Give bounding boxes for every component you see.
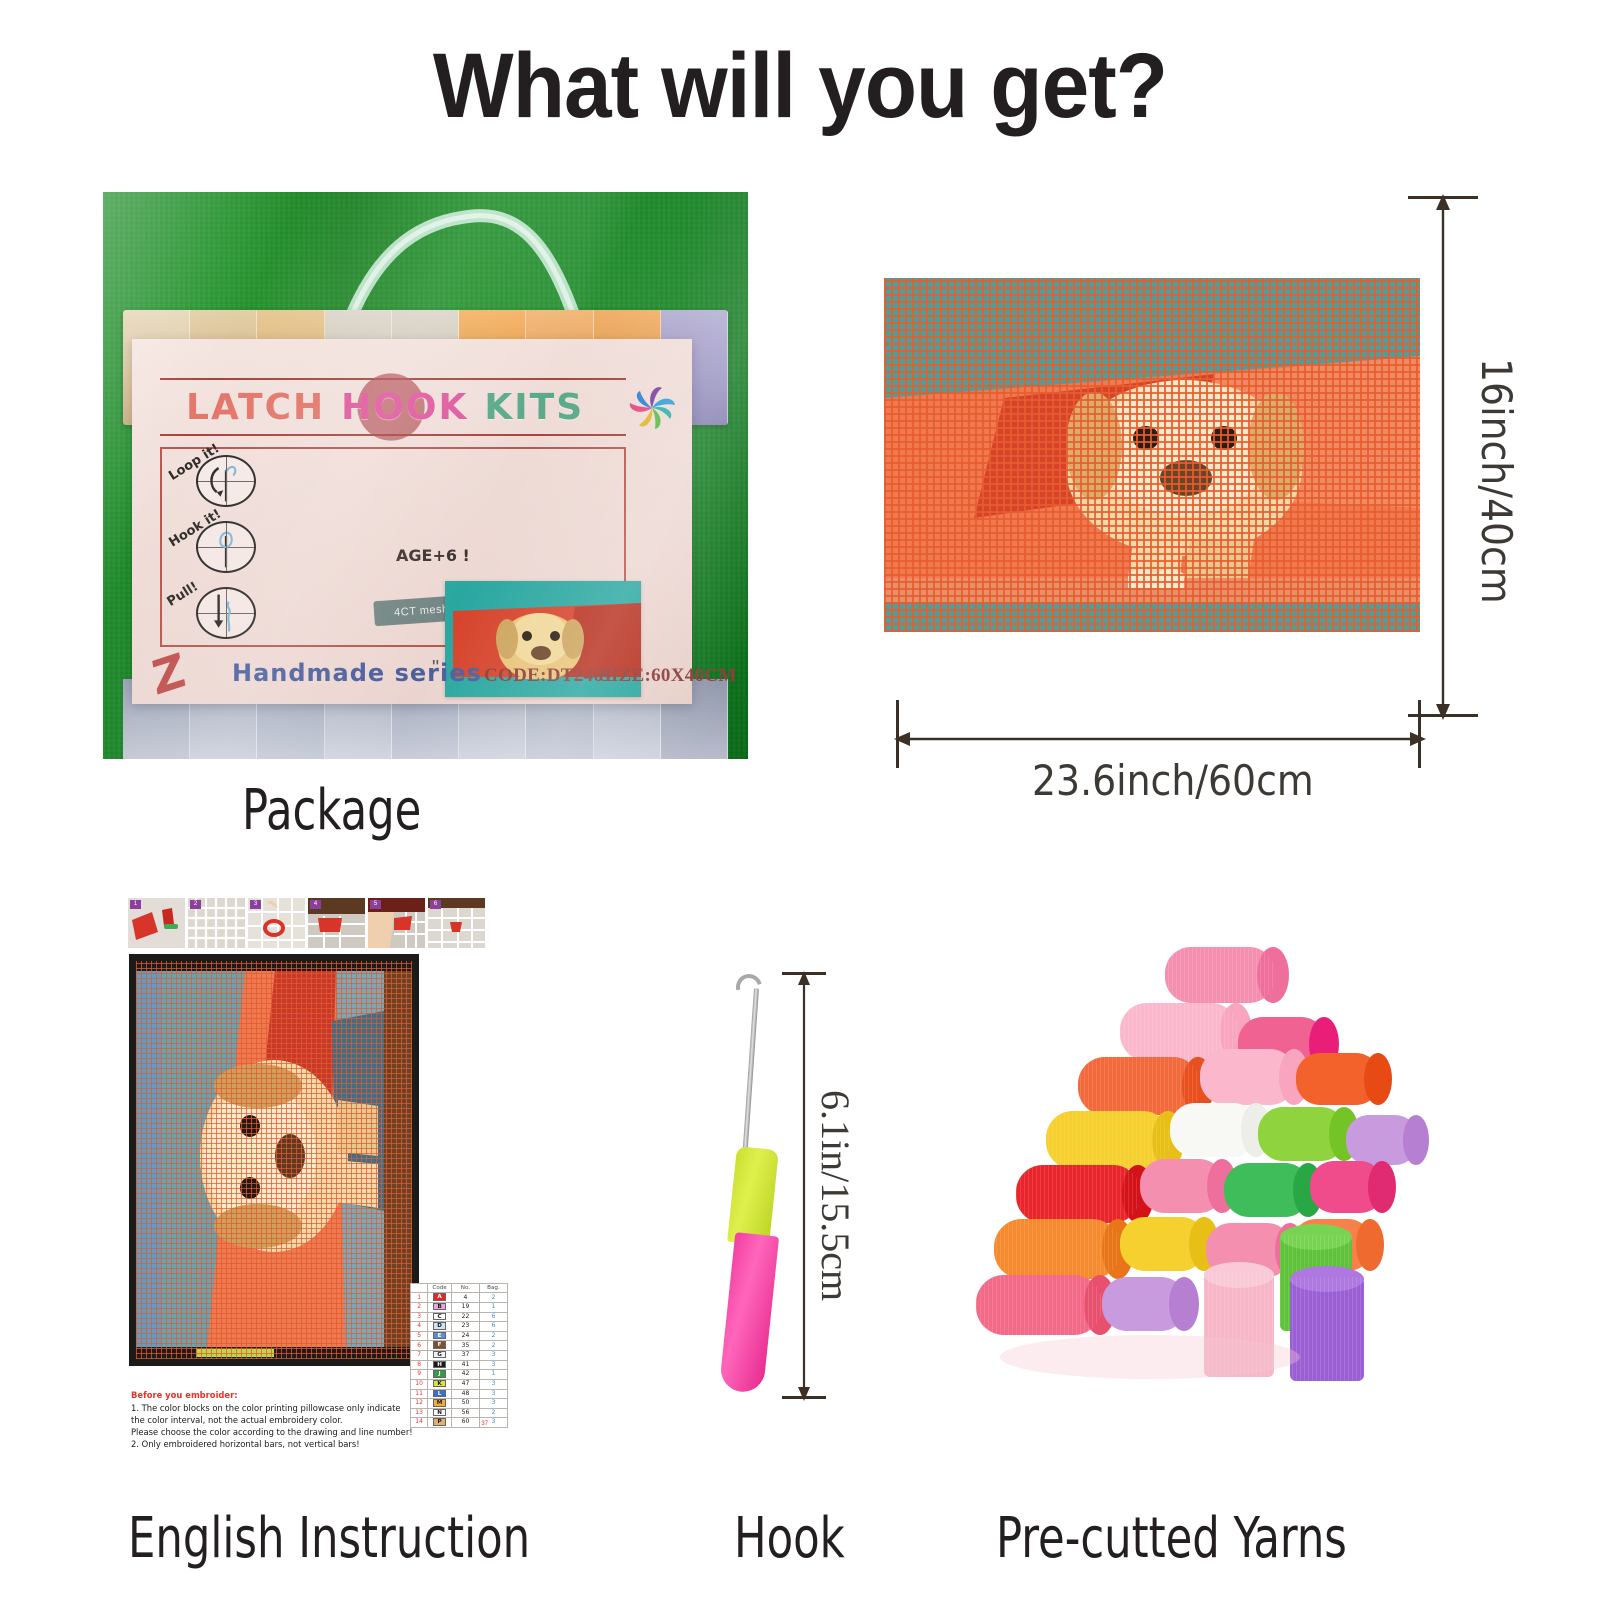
note-header: Before you embroider: (131, 1390, 431, 1402)
color-swatch: B (433, 1303, 446, 1310)
cell-number: 47 (451, 1379, 479, 1389)
note-line: 2. Only embroidered horizontal bars, not… (131, 1439, 360, 1449)
dimension-arrow-horizontal (890, 726, 1430, 752)
step-label-pull: Pull! (165, 579, 201, 610)
cell-index: 10 (411, 1379, 428, 1389)
thumbnail-step: 2 (188, 898, 245, 948)
cell-bag: 2 (479, 1293, 507, 1303)
color-swatch: A (433, 1293, 446, 1300)
cell-index: 7 (411, 1351, 428, 1361)
cell-number: 56 (451, 1408, 479, 1418)
color-swatch: C (433, 1313, 446, 1320)
cell-bag: 3 (479, 1379, 507, 1389)
cell-number: 50 (451, 1399, 479, 1409)
cell-index: 3 (411, 1312, 428, 1322)
cell-code: C (428, 1312, 452, 1322)
cell-bag: 1 (479, 1303, 507, 1313)
before-you-embroider-note: Before you embroider: 1. The color block… (131, 1390, 431, 1451)
cell-code: L (428, 1389, 452, 1399)
instruction-caption: English Instruction (128, 1506, 530, 1571)
cell-number: 4 (451, 1293, 479, 1303)
step-circle-loop (196, 455, 256, 507)
cell-code: F (428, 1341, 452, 1351)
thumbnail-number: 2 (190, 900, 201, 909)
color-swatch: L (433, 1390, 446, 1397)
label-rule-bottom (160, 434, 626, 436)
label-age-text: AGE+6 ! (396, 546, 470, 565)
instruction-chart (129, 954, 419, 1366)
instruction-thumbnail-strip: 1 2 3 (128, 898, 488, 948)
table-row: 7G373 (411, 1351, 508, 1361)
color-swatch: G (433, 1351, 446, 1358)
cell-index: 8 (411, 1360, 428, 1370)
step-circle-pull (196, 587, 256, 639)
table-row: 5E242 (411, 1331, 508, 1341)
table-row: 2B191 (411, 1303, 508, 1313)
note-line: 1. The color blocks on the color printin… (131, 1403, 401, 1413)
color-swatch: F (433, 1341, 446, 1348)
cell-number: 42 (451, 1370, 479, 1380)
canvas-width-label: 23.6inch/60cm (1032, 756, 1314, 805)
package-caption: Package (242, 778, 421, 843)
thumbnail-number: 1 (130, 900, 141, 909)
color-swatch: K (433, 1380, 446, 1387)
cell-number: 23 (451, 1322, 479, 1332)
table-row: 10K473 (411, 1379, 508, 1389)
cell-bag: 6 (479, 1322, 507, 1332)
cell-code: D (428, 1322, 452, 1332)
cell-code: N (428, 1408, 452, 1418)
cell-code: H (428, 1360, 452, 1370)
brand-mark-icon: Z (148, 642, 189, 706)
label-title: LATCH HOOK KITS (186, 381, 606, 433)
thumbnail-number: 3 (250, 900, 261, 909)
cell-number: 22 (451, 1312, 479, 1322)
thumbnail-step: 1 (128, 898, 185, 948)
cell-bag: 3 (479, 1360, 507, 1370)
cell-code: B (428, 1303, 452, 1313)
cell-index: 5 (411, 1331, 428, 1341)
yarns-caption: Pre-cutted Yarns (996, 1506, 1347, 1571)
note-line: the color interval, not the actual embro… (131, 1415, 343, 1425)
cell-bag: 3 (479, 1389, 507, 1399)
cell-bag: 3 (479, 1351, 507, 1361)
cell-bag: 1 (479, 1370, 507, 1380)
th-code: Code (428, 1284, 452, 1293)
thumbnail-step: 6 (428, 898, 485, 948)
note-line: Please choose the color according to the… (131, 1427, 413, 1437)
cell-index: 6 (411, 1341, 428, 1351)
cell-code: K (428, 1379, 452, 1389)
page-title: What will you get? (56, 34, 1544, 139)
label-word-kits: KITS (484, 387, 584, 428)
cell-code: M (428, 1399, 452, 1409)
label-word-hook: HOOK (341, 387, 468, 428)
thumbnail-number: 5 (370, 900, 381, 909)
cell-number: 48 (451, 1389, 479, 1399)
table-row: 1A42 (411, 1293, 508, 1303)
cell-code: E (428, 1331, 452, 1341)
thumbnail-step: 3 (248, 898, 305, 948)
color-swatch: D (433, 1322, 446, 1329)
cell-index: 2 (411, 1303, 428, 1313)
cell-index: 4 (411, 1322, 428, 1332)
cell-number: 41 (451, 1360, 479, 1370)
chart-grid-overlay (136, 961, 412, 1359)
label-word-latch: LATCH (186, 387, 325, 428)
yarn-pile-illustration (960, 925, 1460, 1425)
cell-number: 35 (451, 1341, 479, 1351)
mesh-grid-overlay (884, 278, 1420, 632)
cell-bag: 2 (479, 1341, 507, 1351)
hook-shaft (742, 988, 759, 1160)
cell-code: A (428, 1293, 452, 1303)
table-row: 6F352 (411, 1341, 508, 1351)
mesh-canvas (884, 278, 1420, 632)
label-size-text: SIZE:60X40CM (600, 665, 737, 687)
th-index (411, 1284, 428, 1293)
cell-number: 24 (451, 1331, 479, 1341)
table-row: 9J421 (411, 1370, 508, 1380)
thumbnail-step: 5 (368, 898, 425, 948)
th-no: No. (451, 1284, 479, 1293)
table-header-row: Code No. Bag. (411, 1284, 508, 1293)
pre-cut-yarn-pile (960, 925, 1460, 1425)
cell-bag: 2 (479, 1408, 507, 1418)
hook-handle-upper (727, 1146, 779, 1246)
label-quote-mark: " (432, 657, 439, 680)
hook-caption: Hook (734, 1506, 845, 1571)
hook-tip-icon (731, 969, 767, 1005)
label-instruction-box: Loop it! Hook it! Pull! (160, 447, 626, 647)
cell-number: 37 (451, 1351, 479, 1361)
thumbnail-step: 4 (308, 898, 365, 948)
cell-bag: 2 (479, 1331, 507, 1341)
package-photo: LATCH HOOK KITS Loop it! (103, 192, 748, 759)
cell-code: G (428, 1351, 452, 1361)
thumbnail-number: 4 (310, 900, 321, 909)
cell-bag: 6 (479, 1312, 507, 1322)
label-code-text: CODE:DT2461 (484, 665, 613, 687)
table-row: 4D236 (411, 1322, 508, 1332)
color-swatch: J (433, 1370, 446, 1377)
cell-number: 19 (451, 1303, 479, 1313)
color-swatch: M (433, 1399, 446, 1406)
cell-index: 9 (411, 1370, 428, 1380)
cell-bag: 3 (479, 1399, 507, 1409)
step-circle-hook (196, 521, 256, 573)
pinwheel-logo-icon (619, 375, 685, 441)
color-swatch: N (433, 1409, 446, 1416)
cell-index: 1 (411, 1293, 428, 1303)
label-footer-row: Z Handmade series " CODE:DT2461 SIZE:60X… (132, 651, 692, 699)
table-row: 8H413 (411, 1360, 508, 1370)
thumbnail-number: 6 (430, 900, 441, 909)
color-swatch: E (433, 1332, 446, 1339)
dimension-arrow-vertical (1430, 190, 1456, 724)
label-brand-text: Handmade series (232, 659, 482, 687)
table-row: 3C226 (411, 1312, 508, 1322)
th-bag: Bag. (479, 1284, 507, 1293)
package-paper-label: LATCH HOOK KITS Loop it! (132, 339, 692, 704)
instruction-sheet: 1 2 3 (125, 898, 490, 1478)
color-swatch: H (433, 1361, 446, 1368)
canvas-height-label: 16inch/40cm (1472, 358, 1521, 604)
hook-length-label: 6.1in/15.5cm (812, 1090, 859, 1301)
cell-code: J (428, 1370, 452, 1380)
hook-handle-lower (719, 1232, 779, 1394)
